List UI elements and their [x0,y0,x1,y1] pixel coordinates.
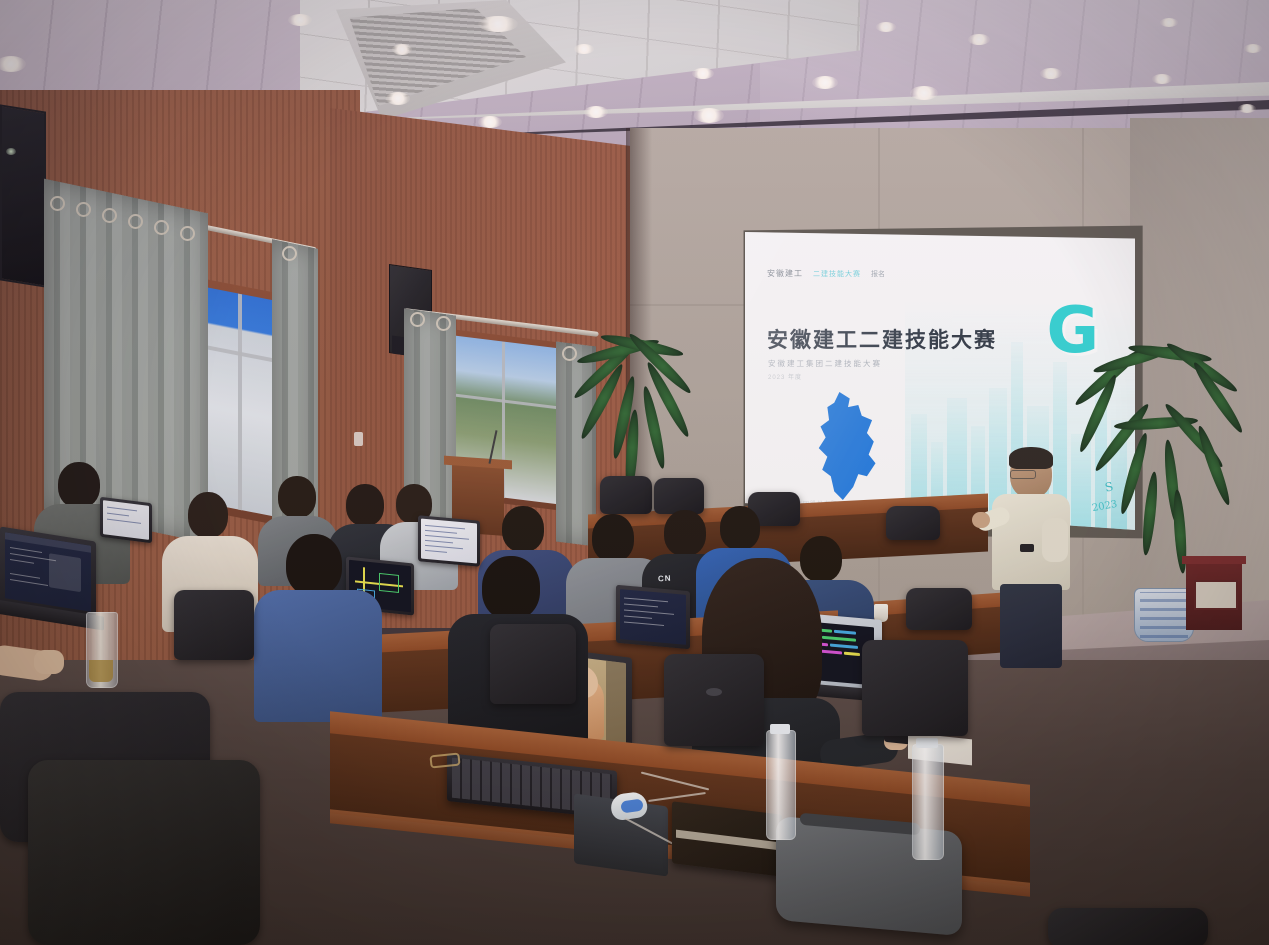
foreground-chair[interactable] [664,654,764,746]
slide-title: 安徽建工二建技能大赛 [767,324,997,354]
slide-header: 安徽建工 二建技能大赛 报名 [767,268,885,279]
slide-subtitle: 安徽建工集团二建技能大赛 [768,358,882,369]
downlight-icon [1040,68,1062,79]
curtain-grommet-icon [50,196,65,211]
presenter-glasses-icon [1010,470,1036,479]
head [592,514,634,562]
tv-screen-glint-icon [6,148,16,155]
laptop-screen[interactable] [421,519,477,564]
laptop-screen[interactable] [103,500,149,540]
downlight-icon [1244,44,1262,53]
curtain-grommet-icon [76,202,91,217]
curtain-grommet-icon [180,226,195,241]
head [346,484,384,526]
foreground-chair[interactable] [174,590,254,660]
slide-header-tag: 报名 [871,269,885,279]
downlight-icon [392,44,412,55]
water-bottle[interactable] [912,744,944,860]
anhui-province-map-icon [805,392,891,500]
tea-leaves [89,660,113,682]
curtain-grommet-icon [436,316,451,331]
presenter-watch-icon [1020,544,1034,552]
foreground-chair[interactable] [28,760,260,945]
video-sidebar [606,661,626,753]
slide-header-sub: 二建技能大赛 [813,269,861,279]
laptop-screen[interactable] [5,532,91,612]
slide-header-brand: 安徽建工 [767,268,803,279]
foreground-chair[interactable] [862,640,968,736]
head [800,536,842,582]
presenter-trousers [1000,584,1062,668]
downlight-icon [288,14,312,26]
shirt-print-text: CN [658,574,672,584]
water-bottle[interactable] [766,730,796,840]
downlight-icon [584,106,608,118]
chair-brand-logo-icon [706,688,722,696]
downlight-icon [910,86,938,100]
head [286,534,342,596]
red-side-table-top [1182,556,1246,564]
downlight-icon [692,68,714,79]
downlight-icon [478,16,518,32]
bottle-cap [916,738,938,748]
downlight-icon [478,116,502,128]
empty-chair[interactable] [600,476,652,514]
head [502,506,544,552]
head [188,492,228,538]
curtain-grommet-icon [410,312,425,327]
curtain-grommet-icon [154,220,169,235]
classroom-scene: G 安徽建工 二建技能大赛 报名 安徽建工二建技能大赛 安徽建工集团二建技能大赛… [0,0,1269,945]
curtain-grommet-icon [282,246,297,261]
empty-chair[interactable] [654,478,704,514]
wall-sensor-icon [354,432,363,446]
empty-chair[interactable] [886,506,940,540]
head [482,556,540,620]
window-mullion [238,294,242,511]
wall-tv[interactable] [0,104,46,287]
porcelain-flower-pot [1134,588,1194,642]
slide-subtitle-secondary: 2023 年度 [768,372,802,381]
foreground-chair[interactable] [490,624,576,704]
bottle-cap [770,724,790,734]
curtain-grommet-icon [128,214,143,229]
downlight-icon [1152,74,1172,84]
downlight-icon [968,34,990,45]
downlight-icon [1238,104,1256,113]
head [58,462,100,508]
laptop-screen[interactable] [620,589,686,645]
torso [254,590,382,722]
downlight-icon [876,22,896,32]
empty-chair[interactable] [906,588,972,630]
downlight-icon [694,108,724,123]
head [664,510,706,556]
presenter-arm-right [1042,518,1068,562]
hand [34,650,64,674]
head [278,476,316,518]
downlight-icon [386,92,410,105]
downlight-icon [812,76,838,89]
presenter-hair-icon [1009,447,1053,469]
pot-pattern [1140,592,1188,638]
presenter-hand-left [972,512,990,528]
curtain-grommet-icon [102,208,117,223]
downlight-icon [574,44,594,54]
downlight-icon [1160,18,1178,27]
framed-picture [1194,580,1238,610]
head [720,506,760,550]
foreground-chair[interactable] [1048,908,1208,945]
